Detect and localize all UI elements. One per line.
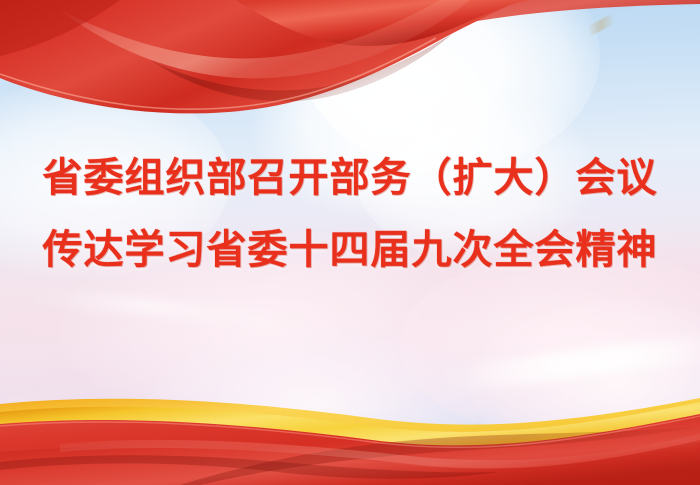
banner-title: 省委组织部召开部务（扩大）会议 传达学习省委十四届九次全会精神 xyxy=(0,152,700,276)
propaganda-banner: 省委组织部召开部务（扩大）会议 传达学习省委十四届九次全会精神 xyxy=(0,0,700,485)
title-line-2: 传达学习省委十四届九次全会精神 xyxy=(0,224,700,276)
title-line-1: 省委组织部召开部务（扩大）会议 xyxy=(0,152,700,204)
pink-haze-band xyxy=(0,250,700,440)
